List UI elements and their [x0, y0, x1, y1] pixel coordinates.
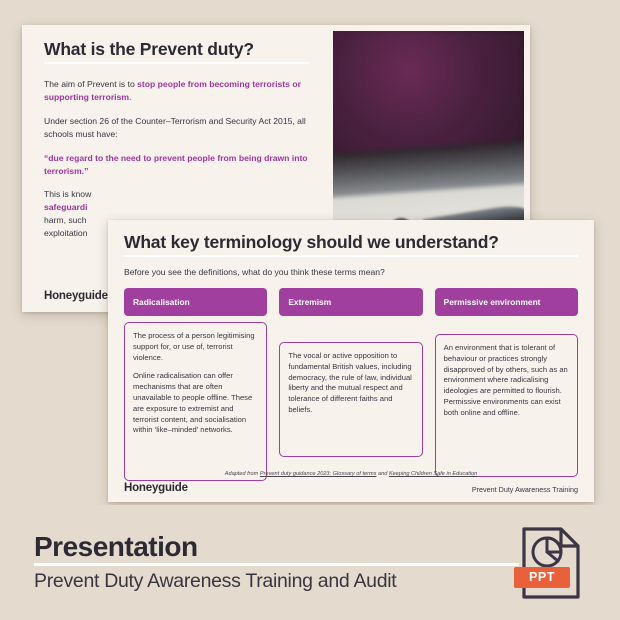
paragraph-1-lead: The aim of Prevent is to: [44, 79, 137, 89]
attribution-prefix: Adapted from: [225, 471, 260, 477]
term-column-radicalisation: Radicalisation The process of a person l…: [124, 288, 267, 481]
definition-paragraph: An environment that is tolerant of behav…: [444, 343, 569, 418]
ppt-file-icon: PPT: [520, 525, 582, 601]
banner-kicker: Presentation: [34, 532, 520, 561]
source-attribution: Adapted from Prevent duty guidance 2023:…: [124, 471, 578, 477]
banner-text-block: Presentation Prevent Duty Awareness Trai…: [34, 532, 520, 593]
slide-deck-preview: What is the Prevent duty? The aim of Pre…: [0, 0, 620, 505]
paragraph-3-line-2: safeguardi: [44, 202, 87, 212]
paragraph-3-line-1: This is know: [44, 189, 91, 199]
slide-key-terminology[interactable]: What key terminology should we understan…: [108, 220, 594, 502]
photo-background-blur: [333, 31, 524, 160]
slide-two-footer-label: Prevent Duty Awareness Training: [472, 485, 578, 494]
title-underline-rule: [44, 62, 309, 64]
attribution-link-prevent-duty-guidance[interactable]: Prevent duty guidance 2023: Glossary of …: [260, 471, 377, 477]
footer-row: Honeyguide Prevent Duty Awareness Traini…: [124, 482, 578, 494]
paragraph-3-line-3: harm, such: [44, 215, 87, 225]
definition-paragraph: The process of a person legitimising sup…: [133, 331, 258, 363]
slide-two-subtitle: Before you see the definitions, what do …: [124, 267, 578, 277]
term-column-extremism: Extremism The vocal or active opposition…: [279, 288, 422, 457]
slide-one-logo: Honeyguide: [44, 290, 108, 302]
term-definition-radicalisation: The process of a person legitimising sup…: [124, 322, 267, 481]
term-definition-extremism: The vocal or active opposition to fundam…: [279, 342, 422, 457]
file-document-icon: [520, 525, 582, 601]
paragraph-1-tail: .: [129, 92, 131, 102]
slide-one-paragraph-1: The aim of Prevent is to stop people fro…: [44, 78, 312, 104]
term-header-permissive-environment: Permissive environment: [435, 288, 578, 316]
banner-subtitle: Prevent Duty Awareness Training and Audi…: [34, 570, 520, 592]
slide-two-footer: Adapted from Prevent duty guidance 2023:…: [124, 471, 578, 494]
term-definition-permissive-environment: An environment that is tolerant of behav…: [435, 334, 578, 477]
slide-one-title: What is the Prevent duty?: [44, 39, 327, 59]
slide-one-quote: “due regard to the need to prevent peopl…: [44, 152, 312, 178]
paragraph-3-line-4: exploitation: [44, 228, 87, 238]
attribution-conjunction: and: [376, 471, 388, 477]
term-header-radicalisation: Radicalisation: [124, 288, 267, 316]
attribution-link-kcsie[interactable]: Keeping Children Safe in Education: [389, 471, 477, 477]
term-column-permissive-environment: Permissive environment An environment th…: [435, 288, 578, 477]
title-underline-rule: [124, 255, 578, 257]
definition-paragraph: The vocal or active opposition to fundam…: [288, 351, 413, 416]
banner-underline-rule: [34, 563, 519, 566]
terminology-columns: Radicalisation The process of a person l…: [124, 288, 578, 481]
slide-two-logo: Honeyguide: [124, 482, 188, 494]
definition-paragraph: Online radicalisation can offer mechanis…: [133, 371, 258, 436]
term-header-extremism: Extremism: [279, 288, 422, 316]
resource-banner: Presentation Prevent Duty Awareness Trai…: [0, 505, 620, 620]
ppt-format-badge: PPT: [514, 567, 570, 588]
slide-two-title: What key terminology should we understan…: [124, 232, 578, 252]
slide-one-paragraph-2: Under section 26 of the Counter–Terroris…: [44, 115, 312, 141]
